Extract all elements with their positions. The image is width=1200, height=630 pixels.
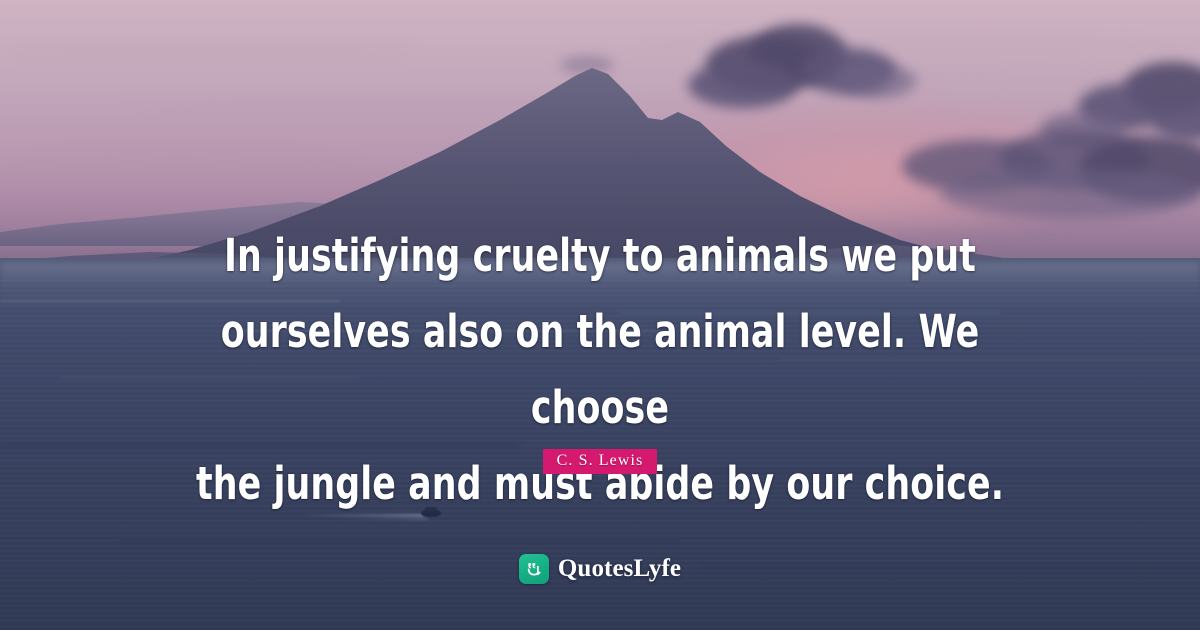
quote-card: In justifying cruelty to animals we put … — [0, 0, 1200, 630]
brand-name: QuotesLyfe — [558, 554, 681, 584]
author-row: C. S. Lewis — [0, 449, 1200, 474]
quote-text: In justifying cruelty to animals we put … — [179, 218, 1022, 522]
card-content: In justifying cruelty to animals we put … — [0, 0, 1200, 630]
brand-logo[interactable]: QuotesLyfe — [0, 554, 1200, 584]
author-name-badge: C. S. Lewis — [543, 449, 658, 474]
quote-mark-icon — [519, 554, 549, 584]
